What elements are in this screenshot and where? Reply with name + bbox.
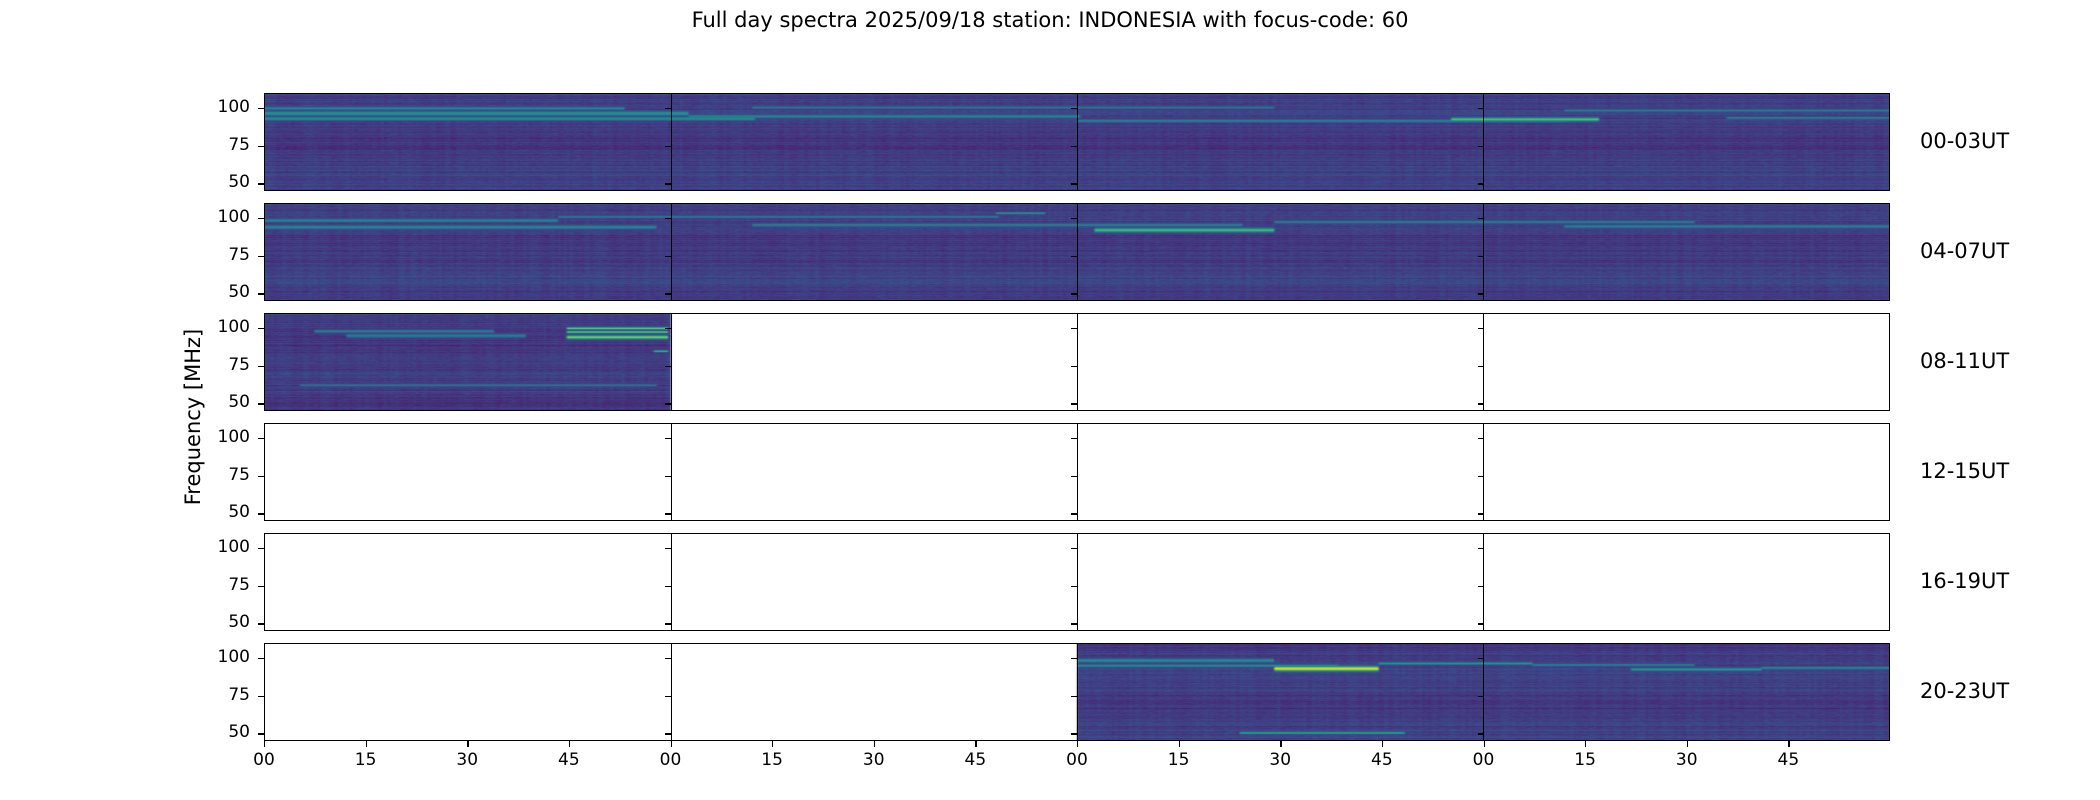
y-tick-mark — [258, 623, 264, 624]
x-tick-label: 00 — [244, 752, 284, 769]
x-tick-label: 45 — [1768, 752, 1808, 769]
x-tick-mark — [1382, 741, 1383, 747]
y-tick-mark-inner — [665, 183, 671, 184]
x-tick-label: 15 — [1159, 752, 1199, 769]
y-tick-mark-inner — [665, 438, 671, 439]
x-tick-mark — [1484, 741, 1485, 747]
y-tick-mark-inner — [1478, 293, 1484, 294]
y-tick-label: 75 — [190, 247, 250, 264]
y-tick-mark — [258, 218, 264, 219]
y-tick-mark-inner — [1071, 108, 1077, 109]
y-tick-mark — [258, 183, 264, 184]
y-tick-mark-inner — [1478, 366, 1484, 367]
row-label-04-07ut: 04-07UT — [1920, 241, 2009, 262]
y-tick-label: 100 — [190, 209, 250, 226]
y-tick-mark-inner — [665, 403, 671, 404]
y-tick-mark-inner — [1478, 146, 1484, 147]
y-tick-mark-inner — [1478, 733, 1484, 734]
y-tick-mark-inner — [1071, 623, 1077, 624]
y-tick-mark-inner — [1071, 293, 1077, 294]
y-tick-mark-inner — [1071, 513, 1077, 514]
x-tick-mark — [366, 741, 367, 747]
y-tick-mark — [258, 328, 264, 329]
y-tick-mark-inner — [665, 658, 671, 659]
x-tick-label: 30 — [447, 752, 487, 769]
spectrogram-row-12-15ut — [264, 423, 1890, 521]
y-tick-mark-inner — [665, 623, 671, 624]
spectrogram-canvas — [265, 534, 1889, 630]
row-label-16-19ut: 16-19UT — [1920, 571, 2009, 592]
y-tick-mark-inner — [1478, 586, 1484, 587]
y-tick-label: 100 — [190, 649, 250, 666]
y-tick-mark — [258, 366, 264, 367]
spectrogram-row-20-23ut — [264, 643, 1890, 741]
y-tick-mark — [258, 146, 264, 147]
y-tick-mark-inner — [1071, 183, 1077, 184]
y-tick-label: 75 — [190, 137, 250, 154]
y-tick-mark-inner — [1071, 658, 1077, 659]
x-tick-label: 45 — [955, 752, 995, 769]
y-tick-mark — [258, 256, 264, 257]
spectrogram-canvas — [265, 94, 1889, 190]
y-tick-label: 100 — [190, 429, 250, 446]
y-tick-mark-inner — [1071, 403, 1077, 404]
spectrogram-canvas — [265, 424, 1889, 520]
y-tick-mark-inner — [1071, 586, 1077, 587]
y-tick-mark-inner — [665, 218, 671, 219]
spectrogram-row-04-07ut — [264, 203, 1890, 301]
y-tick-mark-inner — [1478, 513, 1484, 514]
y-tick-mark-inner — [665, 513, 671, 514]
y-tick-mark-inner — [1071, 476, 1077, 477]
y-tick-mark-inner — [1071, 146, 1077, 147]
y-tick-mark-inner — [1478, 183, 1484, 184]
y-tick-mark — [258, 403, 264, 404]
x-tick-mark — [772, 741, 773, 747]
x-tick-mark — [1788, 741, 1789, 747]
y-tick-label: 50 — [190, 504, 250, 521]
x-tick-label: 45 — [549, 752, 589, 769]
y-tick-mark-inner — [1478, 218, 1484, 219]
y-tick-label: 50 — [190, 614, 250, 631]
x-tick-label: 30 — [1260, 752, 1300, 769]
y-tick-label: 75 — [190, 467, 250, 484]
row-label-20-23ut: 20-23UT — [1920, 681, 2009, 702]
x-tick-label: 30 — [854, 752, 894, 769]
y-tick-label: 50 — [190, 394, 250, 411]
x-tick-mark — [467, 741, 468, 747]
y-tick-label: 100 — [190, 99, 250, 116]
y-tick-mark-inner — [1478, 256, 1484, 257]
y-tick-mark-inner — [1478, 438, 1484, 439]
y-axis-label: Frequency [MHz] — [180, 267, 206, 567]
x-tick-mark — [975, 741, 976, 747]
spectrogram-row-16-19ut — [264, 533, 1890, 631]
x-tick-label: 30 — [1667, 752, 1707, 769]
y-tick-mark — [258, 586, 264, 587]
x-tick-label: 00 — [1464, 752, 1504, 769]
y-tick-mark-inner — [1071, 328, 1077, 329]
y-tick-label: 50 — [190, 284, 250, 301]
y-tick-mark-inner — [1071, 256, 1077, 257]
spectrogram-row-08-11ut — [264, 313, 1890, 411]
x-tick-label: 00 — [651, 752, 691, 769]
y-tick-mark-inner — [665, 586, 671, 587]
row-label-08-11ut: 08-11UT — [1920, 351, 2009, 372]
y-tick-mark — [258, 658, 264, 659]
x-tick-mark — [1077, 741, 1078, 747]
spectrogram-canvas — [265, 644, 1889, 740]
x-tick-mark — [1687, 741, 1688, 747]
x-tick-mark — [1179, 741, 1180, 747]
y-tick-mark — [258, 476, 264, 477]
y-tick-mark-inner — [665, 146, 671, 147]
x-tick-mark — [1585, 741, 1586, 747]
y-tick-label: 100 — [190, 319, 250, 336]
spectrogram-canvas — [265, 314, 1889, 410]
y-tick-mark-inner — [1071, 366, 1077, 367]
page-title: Full day spectra 2025/09/18 station: IND… — [0, 8, 2100, 32]
y-tick-mark-inner — [665, 108, 671, 109]
y-tick-mark — [258, 696, 264, 697]
y-tick-mark-inner — [665, 328, 671, 329]
x-tick-mark — [1280, 741, 1281, 747]
y-tick-mark-inner — [1478, 108, 1484, 109]
x-tick-mark — [671, 741, 672, 747]
y-tick-mark-inner — [1071, 733, 1077, 734]
x-tick-label: 15 — [752, 752, 792, 769]
y-tick-mark-inner — [1478, 328, 1484, 329]
row-label-00-03ut: 00-03UT — [1920, 131, 2009, 152]
y-tick-mark-inner — [1071, 438, 1077, 439]
y-tick-mark-inner — [1478, 476, 1484, 477]
y-tick-mark — [258, 513, 264, 514]
y-tick-mark-inner — [665, 256, 671, 257]
y-tick-mark — [258, 548, 264, 549]
y-tick-mark-inner — [1478, 548, 1484, 549]
x-tick-mark — [569, 741, 570, 747]
y-tick-mark-inner — [665, 548, 671, 549]
y-tick-mark-inner — [1478, 696, 1484, 697]
y-tick-mark-inner — [665, 696, 671, 697]
x-tick-mark — [874, 741, 875, 747]
y-tick-label: 100 — [190, 539, 250, 556]
x-tick-label: 15 — [346, 752, 386, 769]
y-tick-mark-inner — [665, 293, 671, 294]
y-tick-label: 50 — [190, 724, 250, 741]
y-tick-mark-inner — [1478, 623, 1484, 624]
y-tick-mark-inner — [1071, 696, 1077, 697]
y-tick-mark — [258, 293, 264, 294]
spectrogram-row-00-03ut — [264, 93, 1890, 191]
spectrogram-figure: Full day spectra 2025/09/18 station: IND… — [0, 0, 2100, 800]
y-tick-mark-inner — [1478, 658, 1484, 659]
x-tick-label: 00 — [1057, 752, 1097, 769]
y-tick-mark-inner — [665, 366, 671, 367]
y-tick-mark-inner — [665, 476, 671, 477]
y-tick-mark-inner — [1071, 548, 1077, 549]
y-tick-label: 75 — [190, 357, 250, 374]
y-tick-mark — [258, 733, 264, 734]
y-tick-mark — [258, 108, 264, 109]
y-tick-mark-inner — [665, 733, 671, 734]
y-tick-mark-inner — [1071, 218, 1077, 219]
y-tick-mark-inner — [1478, 403, 1484, 404]
y-tick-label: 75 — [190, 577, 250, 594]
x-tick-label: 15 — [1565, 752, 1605, 769]
y-tick-label: 75 — [190, 687, 250, 704]
spectrogram-canvas — [265, 204, 1889, 300]
y-tick-mark — [258, 438, 264, 439]
x-tick-label: 45 — [1362, 752, 1402, 769]
row-label-12-15ut: 12-15UT — [1920, 461, 2009, 482]
y-tick-label: 50 — [190, 174, 250, 191]
x-tick-mark — [264, 741, 265, 747]
